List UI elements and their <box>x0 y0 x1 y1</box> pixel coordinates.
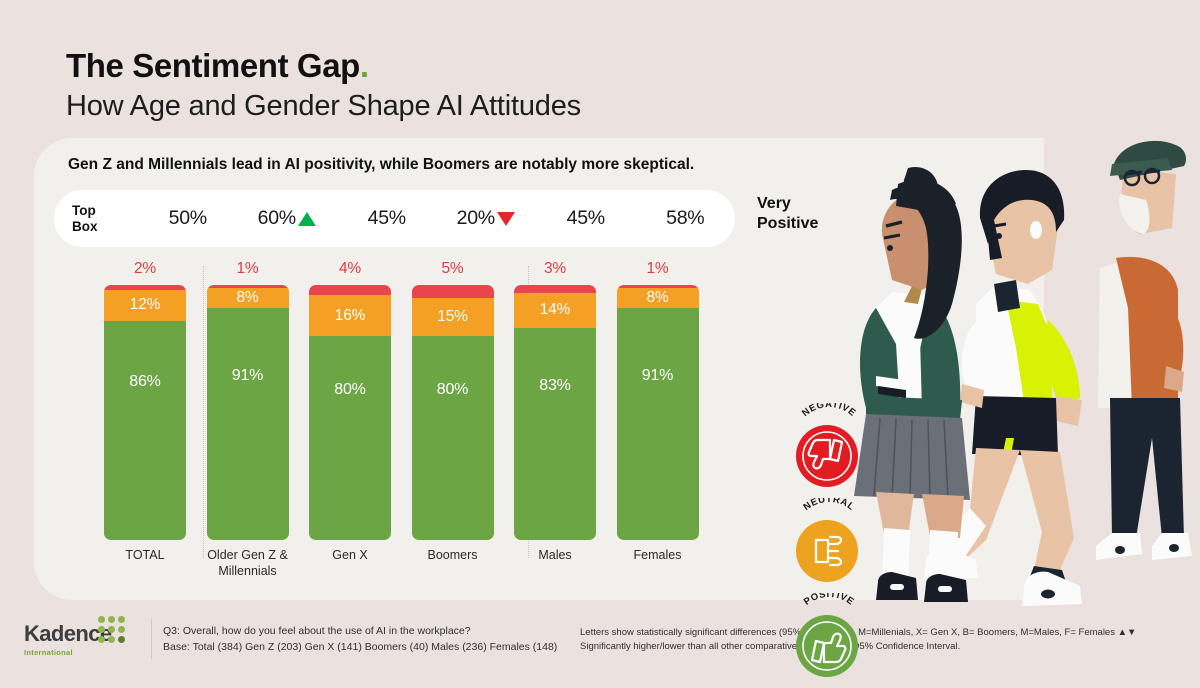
bar-segment-negative <box>514 285 596 293</box>
figure-young-woman <box>854 167 970 602</box>
bar-segment-neutral: 15% <box>412 298 494 336</box>
arrow-up-icon <box>297 210 317 228</box>
top-box-label-line2: Box <box>72 219 138 235</box>
bar-segment-neutral: 8% <box>617 288 699 308</box>
arrow-down-icon <box>496 210 516 228</box>
chart-divider <box>203 266 204 558</box>
segment-value-label: 80% <box>437 381 468 399</box>
footer-note-line2-pre: Females <box>1079 627 1115 638</box>
footer-divider <box>151 619 152 659</box>
negative-value-label: 1% <box>617 260 699 278</box>
segment-value-label: 91% <box>642 367 673 385</box>
top-box-cell-total: 50% <box>138 207 238 230</box>
arrow-up-small-icon: ▲ <box>1118 626 1127 640</box>
segment-value-label: 12% <box>130 296 160 314</box>
card-headline: Gen Z and Millennials lead in AI positiv… <box>68 156 694 174</box>
logo-wordmark: Kadence <box>24 621 144 647</box>
people-illustration <box>780 108 1200 620</box>
bar-stack: 15%80% <box>412 285 494 540</box>
footer-significance-note: Letters show statistically significant d… <box>580 626 1180 655</box>
segment-value-label: 14% <box>540 301 570 319</box>
top-box-value: 45% <box>567 207 605 230</box>
bar-column: 3%14%83%Males <box>514 285 596 540</box>
bar-column: 4%16%80%Gen X <box>309 285 391 540</box>
bar-stack: 14%83% <box>514 285 596 540</box>
top-box-cell-genx: 45% <box>337 207 437 230</box>
thumbs-up-icon <box>796 615 858 677</box>
top-box-cell-males: 45% <box>536 207 636 230</box>
kadence-logo: Kadence International <box>24 621 144 657</box>
segment-value-label: 16% <box>335 307 365 325</box>
bar-segment-neutral: 12% <box>104 290 186 321</box>
bar-segment-positive: 86% <box>104 321 186 540</box>
bar-segment-neutral: 8% <box>207 288 289 308</box>
segment-value-label: 91% <box>232 367 263 385</box>
logo-dot-grid <box>98 616 125 643</box>
footer-note-line2-post: Significantly higher/lower than all othe… <box>580 641 960 652</box>
logo-subtitle: International <box>24 648 144 657</box>
arrow-down-small-icon: ▼ <box>1127 626 1136 640</box>
top-box-label: Top Box <box>72 203 138 234</box>
bar-column: 1%8%91%Females <box>617 285 699 540</box>
page-header: The Sentiment Gap. How Age and Gender Sh… <box>66 48 866 124</box>
bar-stack: 12%86% <box>104 285 186 540</box>
bar-segment-neutral: 16% <box>309 295 391 336</box>
top-box-value: 58% <box>666 207 704 230</box>
page-title-text: The Sentiment Gap <box>66 47 360 84</box>
negative-value-label: 5% <box>412 260 494 278</box>
top-box-cell-boomers: 20% <box>437 207 537 230</box>
negative-value-label: 3% <box>514 260 596 278</box>
segment-value-label: 83% <box>539 377 570 395</box>
segment-value-label: 80% <box>334 381 365 399</box>
top-box-cell-females: 58% <box>636 207 736 230</box>
segment-value-label: 15% <box>437 308 467 326</box>
negative-value-label: 1% <box>207 260 289 278</box>
bar-segment-positive: 91% <box>207 308 289 540</box>
top-box-cell-genz-millennials: 60% <box>238 207 338 230</box>
negative-value-label: 4% <box>309 260 391 278</box>
bar-stack: 8%91% <box>207 285 289 540</box>
bar-column: 1%8%91%Older Gen Z & Millennials <box>207 285 289 540</box>
bar-segment-positive: 80% <box>309 336 391 540</box>
bar-segment-positive: 91% <box>617 308 699 540</box>
category-label: Females <box>595 547 721 563</box>
bar-segment-positive: 83% <box>514 328 596 540</box>
figure-older-man <box>1096 141 1192 560</box>
negative-value-label: 2% <box>104 260 186 278</box>
segment-value-label: 8% <box>236 289 258 307</box>
top-box-value: 50% <box>169 207 207 230</box>
top-box-value: 45% <box>368 207 406 230</box>
footer-question: Q3: Overall, how do you feel about the u… <box>163 623 557 639</box>
top-box-label-line1: Top <box>72 203 138 219</box>
bar-segment-negative <box>412 285 494 298</box>
bar-stack: 8%91% <box>617 285 699 540</box>
page-title: The Sentiment Gap. <box>66 48 866 85</box>
bar-segment-negative <box>309 285 391 295</box>
segment-value-label: 8% <box>646 289 668 307</box>
segment-value-label: 86% <box>129 373 160 391</box>
page-subtitle: How Age and Gender Shape AI Attitudes <box>66 88 866 124</box>
bar-segment-positive: 80% <box>412 336 494 540</box>
top-box-value: 20% <box>457 207 495 230</box>
bar-column: 2%12%86%TOTAL <box>104 285 186 540</box>
stacked-bar-chart: 2%12%86%TOTAL1%8%91%Older Gen Z & Millen… <box>34 258 774 588</box>
top-box-row: Top Box 50% 60% 45% 20% 45% 58% <box>54 190 735 247</box>
bar-column: 5%15%80%Boomers <box>412 285 494 540</box>
bar-segment-neutral: 14% <box>514 293 596 329</box>
page-footer: Kadence International Q3: Overall, how d… <box>0 613 1200 675</box>
footer-source-note: Q3: Overall, how do you feel about the u… <box>163 623 557 656</box>
title-accent-dot: . <box>360 47 369 84</box>
top-box-value: 60% <box>258 207 296 230</box>
bar-stack: 16%80% <box>309 285 391 540</box>
footer-base: Base: Total (384) Gen Z (203) Gen X (141… <box>163 639 557 655</box>
